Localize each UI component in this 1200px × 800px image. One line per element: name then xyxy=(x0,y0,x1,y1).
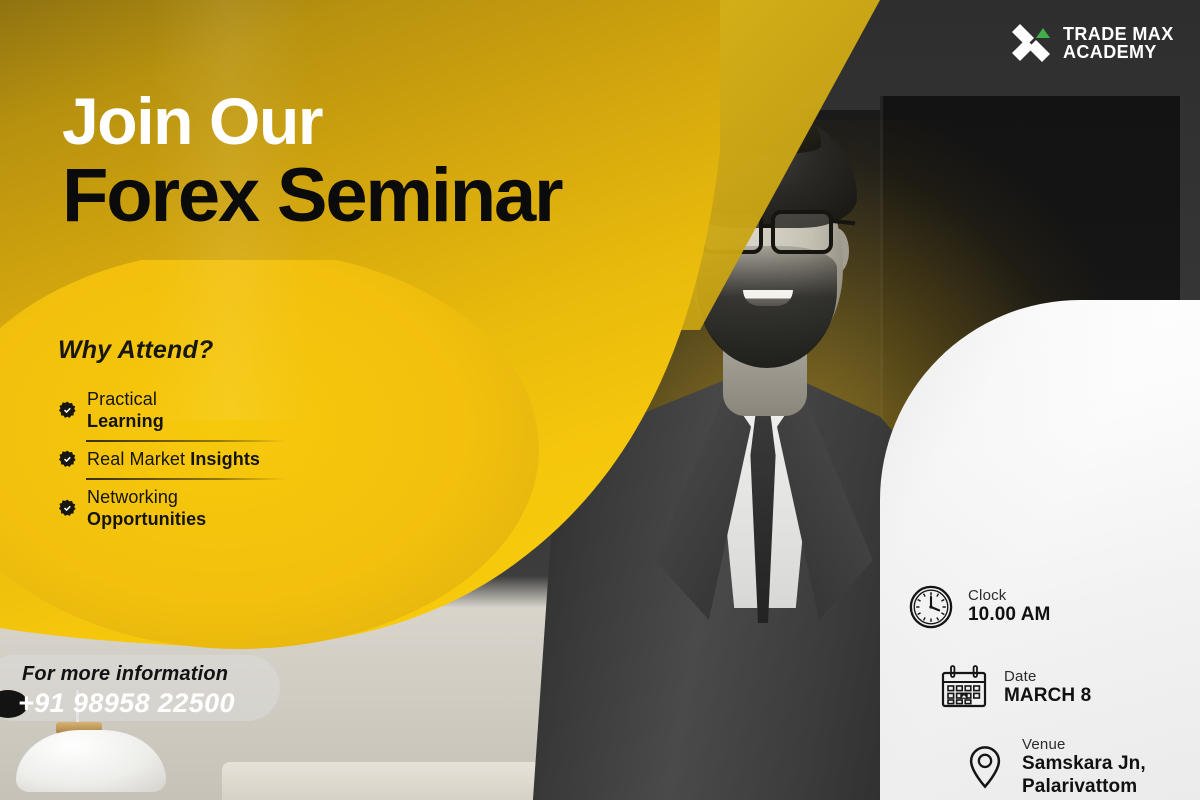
why-attend-block: Why Attend? Practical Learning xyxy=(58,336,358,533)
eyeglasses-bridge xyxy=(761,224,775,228)
list-item: Practical Learning xyxy=(58,387,358,435)
clock-icon xyxy=(908,584,954,630)
list-divider xyxy=(86,440,286,442)
list-item-line2: Learning xyxy=(87,411,164,431)
check-seal-icon xyxy=(58,499,77,518)
check-seal-icon xyxy=(58,450,77,469)
detail-row-clock: Clock 10.00 AM xyxy=(908,584,1050,630)
why-attend-title: Why Attend? xyxy=(58,336,358,365)
list-item-line1: Networking xyxy=(87,487,178,507)
detail-label: Venue xyxy=(1022,736,1146,753)
logo-line2: ACADEMY xyxy=(1063,43,1174,61)
list-divider xyxy=(86,478,286,480)
info-panel-shading xyxy=(880,300,1200,800)
list-item-line2: Insights xyxy=(190,449,260,469)
location-pin-icon xyxy=(962,744,1008,790)
headline-line2: Forex Seminar xyxy=(62,157,561,235)
detail-text-venue: Venue Samskara Jn, Palarivattom xyxy=(1022,736,1146,798)
list-item-text: Practical Learning xyxy=(87,389,164,433)
list-item-line2: Opportunities xyxy=(87,509,206,529)
list-item-text: Real Market Insights xyxy=(87,449,260,471)
logo-line1: TRADE MAX xyxy=(1063,25,1174,43)
detail-value-line2: Palarivattom xyxy=(1022,776,1146,798)
forex-seminar-poster: TRADE MAX ACADEMY Join Our Forex Seminar… xyxy=(0,0,1200,800)
list-item-text: Networking Opportunities xyxy=(87,487,206,531)
list-item: Networking Opportunities xyxy=(58,485,358,533)
detail-label: Date xyxy=(1004,668,1091,685)
eyeglasses-lens-right xyxy=(771,210,833,254)
logo-text-block: TRADE MAX ACADEMY xyxy=(1063,25,1174,62)
detail-text-clock: Clock 10.00 AM xyxy=(968,587,1050,627)
detail-row-date: Date MARCH 8 xyxy=(938,662,1091,714)
list-item: Real Market Insights xyxy=(58,447,358,473)
contact-label: For more information xyxy=(22,663,228,686)
brand-logo[interactable]: TRADE MAX ACADEMY xyxy=(1010,22,1174,64)
contact-phone[interactable]: +91 98958 22500 xyxy=(18,688,235,719)
detail-row-venue: Venue Samskara Jn, Palarivattom xyxy=(962,736,1146,798)
list-item-line1: Real Market xyxy=(87,449,190,469)
detail-value: MARCH 8 xyxy=(1004,685,1091,707)
why-attend-list: Practical Learning Real Market Insights xyxy=(58,387,358,533)
check-seal-icon xyxy=(58,401,77,420)
headline-line1: Join Our xyxy=(62,88,561,155)
detail-value: Samskara Jn, xyxy=(1022,753,1146,775)
calendar-icon xyxy=(938,662,990,714)
detail-text-date: Date MARCH 8 xyxy=(1004,668,1091,708)
list-item-line1: Practical xyxy=(87,389,157,409)
detail-label: Clock xyxy=(968,587,1050,604)
detail-value: 10.00 AM xyxy=(968,604,1050,626)
headline-block: Join Our Forex Seminar xyxy=(62,88,561,236)
tradex-arrow-logo-mark-icon xyxy=(1010,22,1052,64)
